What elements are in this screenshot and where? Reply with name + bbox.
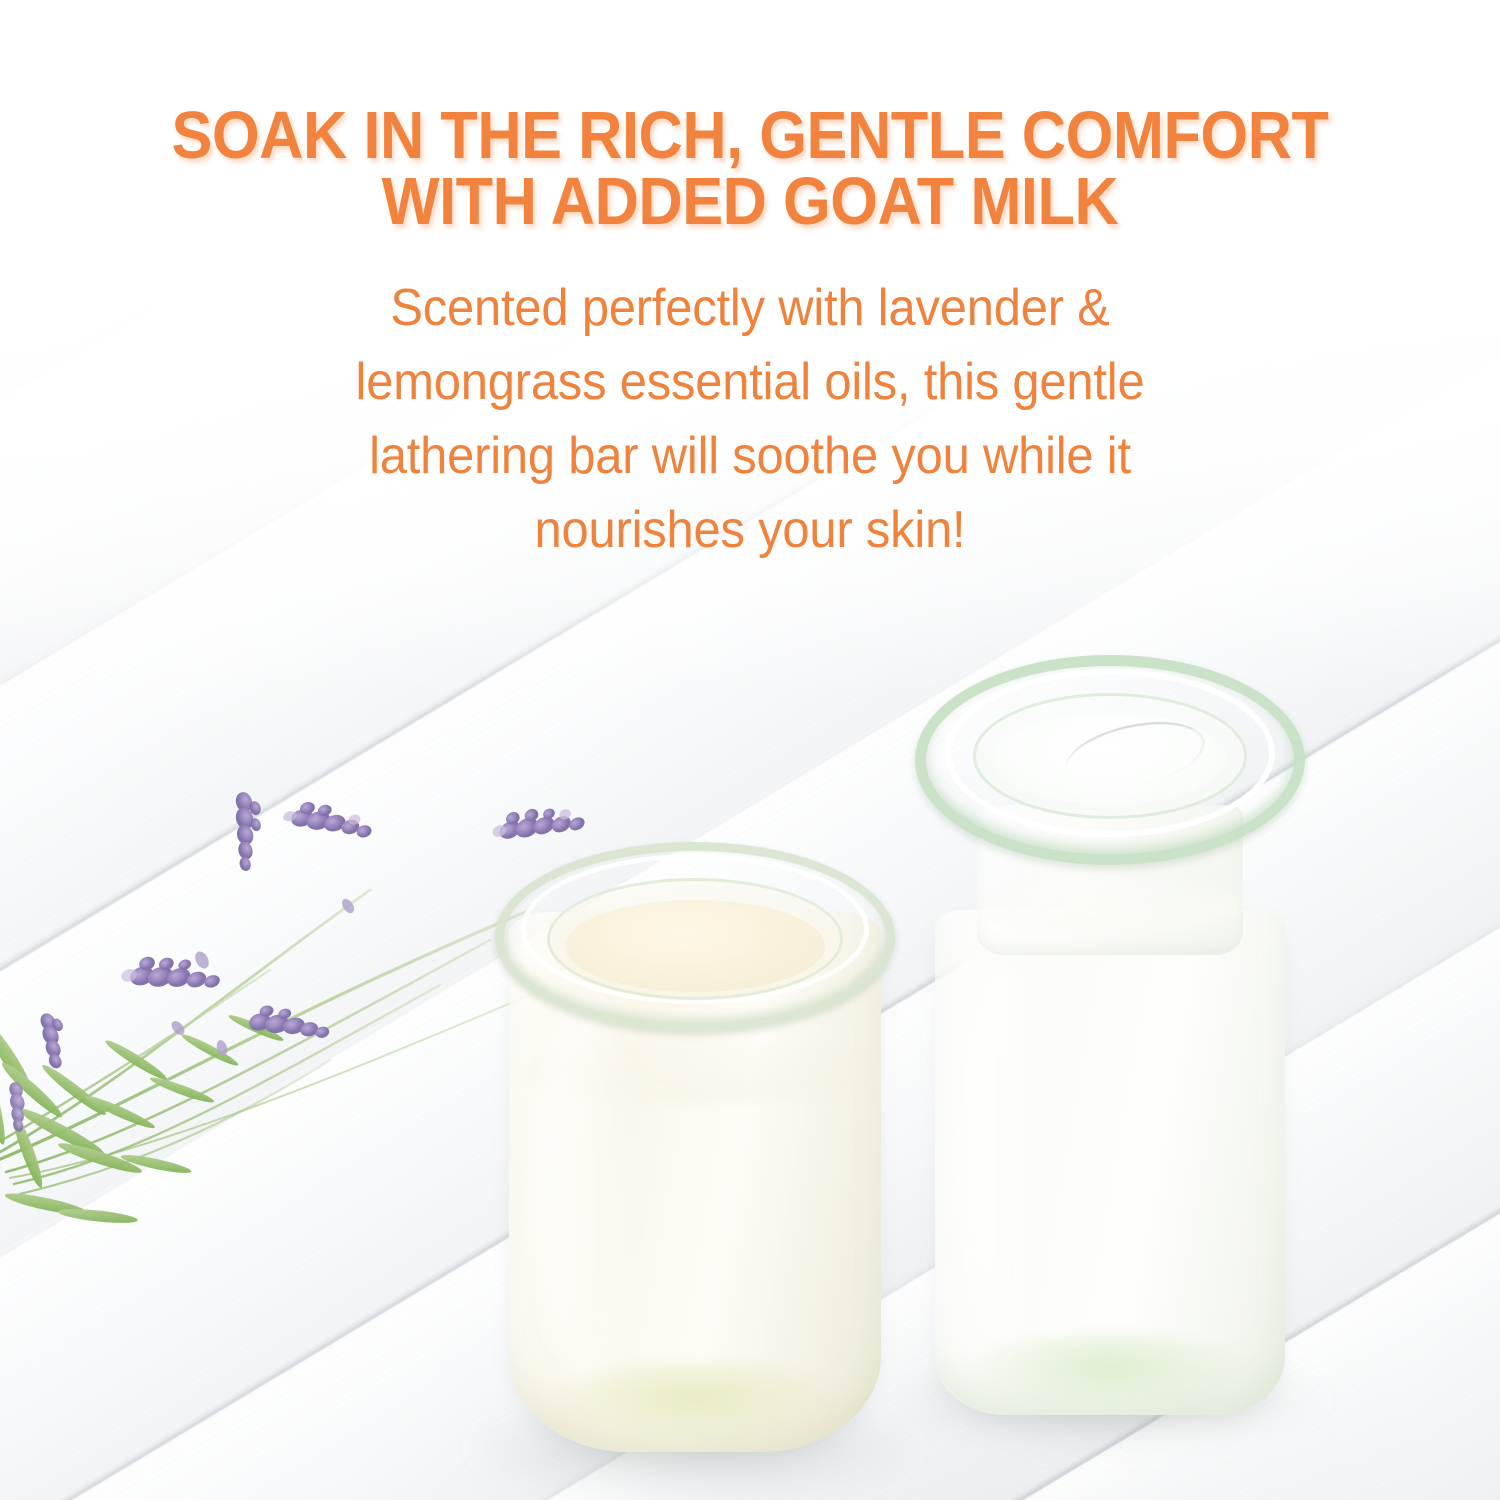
milk-jar-left [495,842,895,1452]
jar-right-base-tint [963,1333,1257,1417]
banner-subheading: Scented perfectly with lavender & lemong… [45,272,1455,567]
jar-right-milk-line [979,877,1241,933]
jar-left-glass-highlight [535,992,645,1392]
milk-jar-right [915,655,1305,1415]
jar-left-milk-surface [565,900,825,992]
product-banner: SOAK IN THE RICH, GENTLE COMFORT WITH AD… [0,0,1500,1500]
jar-left-base-tint [545,1362,845,1452]
jar-right-glass-highlight [959,955,1055,1355]
banner-headline: SOAK IN THE RICH, GENTLE COMFORT WITH AD… [64,103,1437,234]
banner-text-block: SOAK IN THE RICH, GENTLE COMFORT WITH AD… [0,0,1500,568]
